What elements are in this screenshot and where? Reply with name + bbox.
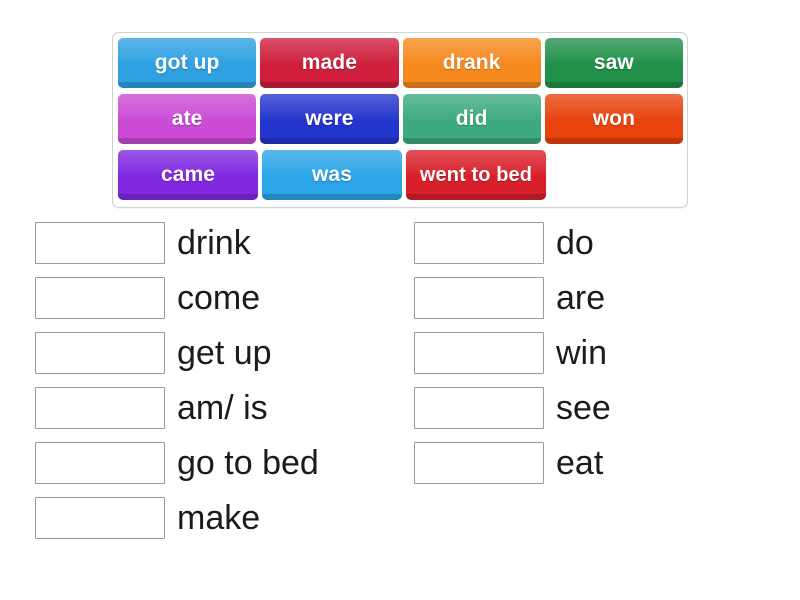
answer-drop-zone-are[interactable] xyxy=(414,277,544,319)
answer-drop-zone-eat[interactable] xyxy=(414,442,544,484)
answer-drop-zone-see[interactable] xyxy=(414,387,544,429)
word-tile-went-to-bed[interactable]: went to bed xyxy=(406,150,546,200)
word-tile-label: made xyxy=(300,51,359,75)
answer-drop-zone-get-up[interactable] xyxy=(35,332,165,374)
word-tile-label: got up xyxy=(153,51,222,75)
answer-prompt-come: come xyxy=(177,279,260,317)
word-tile-ate[interactable]: ate xyxy=(118,94,256,144)
tile-row: ate were did won xyxy=(118,94,683,144)
answer-column-right: do are win see eat xyxy=(414,222,611,497)
answer-row: am/ is xyxy=(35,387,319,429)
answer-drop-zone-am-is[interactable] xyxy=(35,387,165,429)
answer-prompt-go-to-bed: go to bed xyxy=(177,444,319,482)
word-tile-label: saw xyxy=(592,51,636,75)
answer-prompt-are: are xyxy=(556,279,605,317)
answer-row: drink xyxy=(35,222,319,264)
answer-column-left: drink come get up am/ is go to bed make xyxy=(35,222,319,552)
word-tile-label: came xyxy=(159,163,217,187)
answer-row: make xyxy=(35,497,319,539)
answer-row: are xyxy=(414,277,611,319)
answer-row: get up xyxy=(35,332,319,374)
word-tile-did[interactable]: did xyxy=(403,94,541,144)
word-tile-label: was xyxy=(310,163,354,187)
word-tile-were[interactable]: were xyxy=(260,94,398,144)
answer-drop-zone-drink[interactable] xyxy=(35,222,165,264)
tile-row: got up made drank saw xyxy=(118,38,683,88)
answer-prompt-win: win xyxy=(556,334,607,372)
answer-row: do xyxy=(414,222,611,264)
word-tile-label: were xyxy=(303,107,355,131)
answer-prompt-am-is: am/ is xyxy=(177,389,268,427)
answer-drop-zone-go-to-bed[interactable] xyxy=(35,442,165,484)
answer-row: see xyxy=(414,387,611,429)
word-tile-made[interactable]: made xyxy=(260,38,398,88)
answer-row: win xyxy=(414,332,611,374)
answer-prompt-see: see xyxy=(556,389,611,427)
word-tile-label: did xyxy=(454,107,490,131)
answer-prompt-eat: eat xyxy=(556,444,603,482)
answer-row: go to bed xyxy=(35,442,319,484)
word-tile-got-up[interactable]: got up xyxy=(118,38,256,88)
answer-drop-zone-win[interactable] xyxy=(414,332,544,374)
word-tile-saw[interactable]: saw xyxy=(545,38,683,88)
answer-prompt-drink: drink xyxy=(177,224,251,262)
answer-row: eat xyxy=(414,442,611,484)
word-tile-won[interactable]: won xyxy=(545,94,683,144)
answer-prompt-make: make xyxy=(177,499,260,537)
answer-drop-zone-make[interactable] xyxy=(35,497,165,539)
answer-drop-zone-do[interactable] xyxy=(414,222,544,264)
word-tile-label: ate xyxy=(170,107,205,131)
word-tile-was[interactable]: was xyxy=(262,150,402,200)
word-tile-label: went to bed xyxy=(418,164,534,187)
word-tile-bank: got up made drank saw ate were did xyxy=(112,32,688,208)
answer-prompt-do: do xyxy=(556,224,594,262)
answer-row: come xyxy=(35,277,319,319)
match-up-exercise: got up made drank saw ate were did xyxy=(0,0,800,600)
word-tile-label: drank xyxy=(441,51,503,75)
tile-row: came was went to bed xyxy=(118,150,683,200)
word-tile-drank[interactable]: drank xyxy=(403,38,541,88)
answer-drop-zone-come[interactable] xyxy=(35,277,165,319)
word-tile-came[interactable]: came xyxy=(118,150,258,200)
answer-prompt-get-up: get up xyxy=(177,334,272,372)
word-tile-label: won xyxy=(591,107,637,131)
